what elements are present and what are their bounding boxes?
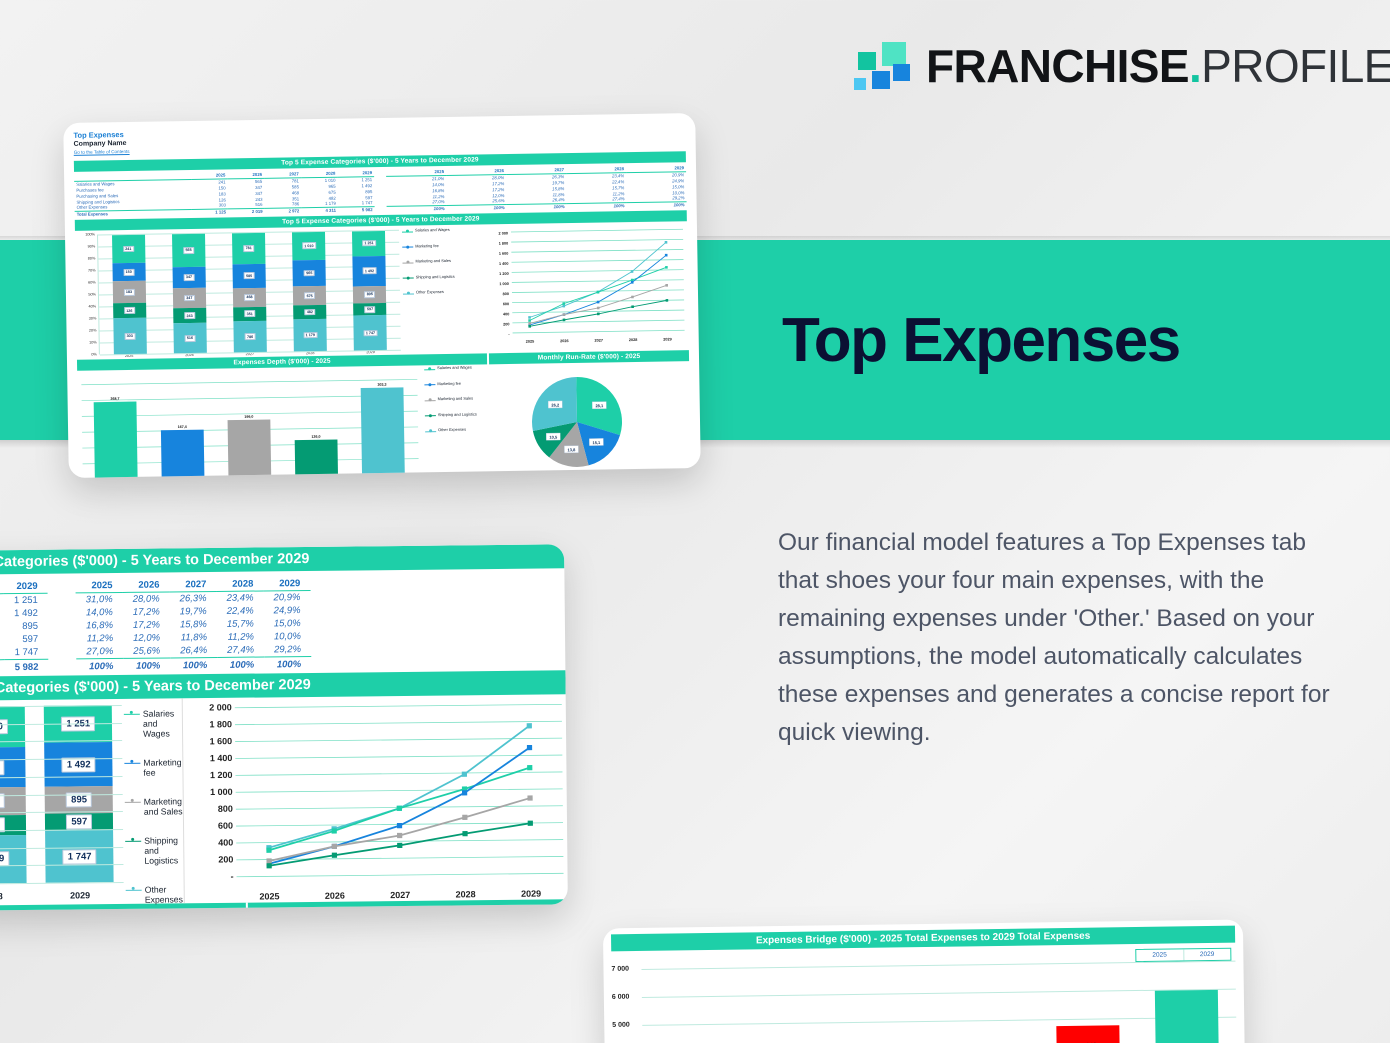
stack-segment: 183	[112, 281, 145, 303]
segment-label: 351	[244, 310, 255, 317]
segment-label: 516	[184, 335, 195, 342]
stack-segment: 1 179	[293, 319, 327, 352]
legend-label: Other Expenses	[416, 289, 444, 294]
svg-text:13,8: 13,8	[567, 448, 576, 453]
axis-tick: 6 000	[612, 994, 630, 1001]
segment-label: 585	[244, 272, 255, 279]
stack-segment: 895	[45, 786, 113, 813]
svg-text:2029: 2029	[663, 338, 672, 342]
hero-description: Our financial model features a Top Expen…	[778, 524, 1338, 752]
svg-text:2025: 2025	[259, 891, 279, 901]
svg-text:800: 800	[503, 293, 509, 297]
legend-marker	[125, 798, 141, 806]
legend-item: Marketing and Sales	[402, 258, 487, 265]
legend-item: Other Expenses	[126, 884, 184, 905]
card1-stacked-bar-chart: 2411501831263035653473472435167815854683…	[97, 230, 401, 355]
legend-label: Marketing fee	[437, 381, 461, 386]
card3-waterfall-chart: 7 0006 0005 0004 0007064711 443	[611, 947, 1237, 1043]
segment-label: 347	[184, 295, 195, 302]
stack-segment: 781	[232, 232, 266, 264]
legend-item: Shipping and Logistics	[403, 273, 488, 280]
legend-item: Marketing fee	[402, 242, 487, 249]
segment-label: 565	[183, 247, 194, 254]
page-title: Top Expenses	[782, 310, 1180, 372]
svg-text:303,3: 303,3	[377, 383, 386, 387]
axis-tick: 5 000	[612, 1022, 630, 1029]
legend-item: Salaries and Wages	[424, 364, 509, 371]
svg-text:-: -	[231, 871, 234, 881]
legend-marker	[425, 413, 436, 418]
stack-segment: 1 251	[352, 230, 385, 256]
legend-marker	[402, 229, 413, 234]
svg-text:2026: 2026	[560, 340, 569, 344]
segment-label: 1 251	[61, 716, 95, 731]
segment-label: 347	[183, 274, 194, 281]
legend-marker	[424, 382, 435, 387]
card2-percent-table: 2025202620272028202931,0%28,0%26,3%23,4%…	[76, 577, 312, 673]
svg-text:2025: 2025	[526, 340, 535, 344]
svg-text:26,2: 26,2	[551, 403, 560, 408]
svg-text:400: 400	[218, 837, 233, 847]
col-header: 2025	[76, 579, 123, 593]
logo-wordmark: FRANCHISE.PROFILES	[926, 43, 1390, 89]
segment-label: 1 010	[302, 242, 316, 249]
axis-tick: 80%	[88, 257, 96, 261]
svg-text:1 000: 1 000	[210, 787, 233, 797]
svg-text:2027: 2027	[594, 339, 603, 343]
axis-tick: 0%	[91, 353, 97, 357]
segment-label: 1 492	[362, 267, 376, 274]
axis-tick: 2029	[46, 890, 114, 901]
svg-text:800: 800	[218, 804, 233, 814]
svg-text:400: 400	[503, 313, 509, 317]
legend-marker	[402, 260, 413, 265]
table-total-row: 100%100%100%100%100%	[76, 656, 311, 673]
svg-text:600: 600	[503, 303, 509, 307]
svg-text:1 600: 1 600	[499, 252, 509, 256]
logo-dot: .	[1189, 40, 1201, 92]
stack-column: 565347347243516	[172, 233, 207, 354]
legend-marker	[424, 367, 435, 372]
svg-text:-: -	[508, 333, 510, 337]
stack-column: 1 2511 4928955971 747	[352, 230, 387, 351]
stack-segment: 347	[172, 267, 205, 288]
stack-segment: 1 179	[0, 835, 27, 884]
segment-label: 1 747	[363, 330, 377, 337]
segment-label: 1 010	[0, 719, 8, 734]
card2-line-chart: 2 0001 8001 6001 4001 2001 0008006004002…	[182, 694, 568, 903]
segment-label: 243	[184, 312, 195, 319]
svg-text:1 200: 1 200	[499, 272, 509, 276]
svg-text:2026: 2026	[325, 891, 345, 901]
stack-segment: 351	[233, 306, 266, 321]
stack-segment: 965	[0, 747, 26, 787]
axis-tick: 70%	[88, 269, 96, 273]
axis-tick: 2028	[0, 891, 27, 902]
legend-item: Marketing and Sales	[425, 395, 510, 402]
logo-bold-text: FRANCHISE	[926, 40, 1189, 92]
legend-item: Other Expenses	[403, 289, 488, 296]
segment-label: 597	[365, 306, 376, 313]
stack-segment: 243	[173, 308, 206, 323]
legend-label: Marketing and Sales	[415, 258, 451, 264]
card1-pie-legend: Salaries and Wages Marketing fee Marketi…	[421, 364, 511, 477]
legend-item: Marketing and Sales	[125, 796, 183, 817]
svg-text:1 200: 1 200	[210, 770, 233, 780]
legend-label: Shipping and Logistics	[144, 835, 183, 865]
legend-label: Shipping and Logistics	[438, 411, 477, 417]
stack-segment: 241	[112, 234, 146, 263]
svg-text:1 600: 1 600	[210, 736, 233, 746]
segment-label: 468	[244, 294, 255, 301]
legend-item: Shipping and Logistics	[425, 411, 510, 418]
svg-text:2028: 2028	[456, 889, 476, 899]
segment-label: 597	[66, 814, 92, 829]
svg-text:2029: 2029	[521, 889, 541, 899]
stack-segment: 1 747	[354, 315, 388, 351]
legend-item: Other Expenses	[425, 426, 510, 433]
legend-marker	[403, 291, 414, 296]
stack-segment: 1 492	[353, 256, 387, 286]
stack-segment: 347	[173, 288, 206, 309]
table-total-row: 2 0192 9724 3115 982	[0, 659, 49, 675]
dashboard-card-expenses-bridge[interactable]: Expenses Bridge ($'000) - 2025 Total Exp…	[603, 920, 1245, 1043]
segment-label: 1 179	[0, 851, 9, 866]
svg-text:199,0: 199,0	[244, 415, 253, 419]
svg-text:1 400: 1 400	[210, 753, 233, 763]
stack-segment: 895	[353, 285, 386, 303]
logo-squares-icon	[852, 38, 908, 94]
stack-segment: 786	[233, 321, 267, 353]
axis-tick: 50%	[88, 293, 96, 297]
segment-label: 781	[243, 245, 254, 252]
dashboard-card-expense-categories[interactable]: Top 5 Expense Categories ($'000) - 5 Yea…	[0, 544, 568, 911]
legend-item: Marketing fee	[424, 380, 509, 387]
legend-label: Marketing and Sales	[438, 396, 474, 402]
svg-text:28,1: 28,1	[595, 404, 604, 409]
svg-text:2028: 2028	[629, 338, 638, 342]
col-header: 2028	[216, 577, 263, 591]
segment-label: 482	[304, 309, 315, 316]
stack-segment: 516	[173, 323, 207, 354]
segment-label: 1 179	[303, 332, 317, 339]
logo-light-text: PROFILES	[1201, 40, 1390, 92]
card1-percent-table: 2025202620272028202921,0%28,0%26,3%23,4%…	[386, 165, 687, 212]
stack-segment: 597	[353, 303, 386, 315]
segment-label: 675	[304, 293, 315, 300]
axis-tick: 40%	[89, 305, 97, 309]
legend-label: Shipping and Logistics	[416, 274, 455, 280]
col-header: 2026	[122, 578, 169, 592]
dashboard-card-top-expenses[interactable]: Top Expenses Company Name Go to the Tabl…	[63, 113, 700, 478]
svg-text:1 800: 1 800	[499, 242, 509, 246]
card1-pie-chart: 28,115,113,810,526,2	[509, 362, 691, 478]
card2-values-table: 20262027202820295657811 0101 25134758596…	[0, 580, 49, 676]
segment-label: 895	[364, 291, 375, 298]
legend-marker	[126, 886, 142, 894]
segment-label: 1 251	[362, 240, 376, 247]
axis-tick: 20%	[89, 329, 97, 333]
svg-text:1 000: 1 000	[499, 282, 509, 286]
stack-column: 241150183126303	[112, 234, 147, 355]
card1-line-chart: 2 0001 8001 6001 4001 2001 0008006004002…	[487, 224, 689, 347]
legend-item: Shipping and Logistics	[125, 835, 183, 866]
segment-label: 150	[123, 269, 134, 276]
stack-column: 1 0109656754821 179	[292, 231, 327, 352]
stack-segment: 303	[113, 318, 147, 355]
stack-segment: 126	[113, 303, 146, 319]
brand-logo: FRANCHISE.PROFILES	[852, 38, 1390, 94]
legend-marker	[403, 275, 414, 280]
card1-stacked-yaxis: 100%90%80%70%60%50%40%30%20%10%0%	[75, 235, 99, 355]
axis-tick: 7 000	[611, 966, 629, 973]
axis-tick: 10%	[89, 341, 97, 345]
stack-segment: 468	[233, 287, 266, 306]
svg-text:2027: 2027	[390, 890, 410, 900]
stack-segment: 1 492	[44, 742, 113, 787]
legend-marker	[425, 429, 436, 434]
card2-legend: Salaries and Wages Marketing fee Marketi…	[124, 708, 184, 911]
segment-label: 303	[124, 333, 135, 340]
legend-marker	[402, 244, 413, 249]
stack-segment: 585	[232, 264, 265, 288]
stack-segment: 675	[0, 787, 26, 815]
stack-segment: 482	[293, 305, 326, 319]
segment-label: 126	[124, 307, 135, 314]
legend-label: Marketing and Sales	[144, 796, 183, 816]
legend-item: Salaries and Wages	[402, 227, 487, 234]
stack-segment: 965	[293, 259, 327, 286]
card2-stacked-bar-chart: 7815854683517861 0109656754821 1791 2511…	[0, 705, 124, 885]
card1-depth-bar-chart: 268,7167,4199,0126,0303,3	[77, 366, 423, 478]
col-header: 2027	[169, 578, 216, 592]
col-header: 2029	[4, 580, 48, 594]
legend-marker	[124, 710, 140, 718]
legend-label: Salaries and Wages	[437, 365, 472, 371]
axis-tick: 30%	[89, 317, 97, 321]
waterfall-bar	[1155, 989, 1219, 1043]
svg-text:1 400: 1 400	[499, 262, 509, 266]
svg-text:126,0: 126,0	[311, 435, 320, 439]
legend-item: Marketing fee	[124, 757, 182, 778]
legend-label: Other Expenses	[438, 427, 466, 432]
stack-column: 781585468351786	[232, 232, 267, 353]
segment-label: 965	[304, 270, 315, 277]
stack-segment: 150	[112, 263, 145, 281]
stack-segment: 482	[0, 815, 26, 835]
svg-text:268,7: 268,7	[110, 397, 119, 401]
svg-text:167,4: 167,4	[178, 425, 187, 429]
segment-label: 183	[123, 289, 134, 296]
card1-legend: Salaries and Wages Marketing fee Marketi…	[399, 227, 489, 354]
segment-label: 241	[123, 245, 134, 252]
segment-label: 786	[245, 333, 256, 340]
stack-segment: 565	[172, 233, 206, 267]
svg-text:600: 600	[218, 821, 233, 831]
segment-label: 675	[0, 794, 5, 809]
svg-text:1 800: 1 800	[209, 719, 232, 729]
legend-marker	[425, 398, 436, 403]
segment-label: 1 747	[63, 849, 97, 864]
stack-segment: 675	[293, 286, 326, 305]
svg-text:10,5: 10,5	[549, 435, 558, 440]
col-header: 2029	[263, 577, 310, 591]
segment-label: 965	[0, 760, 4, 775]
card1-values-table: 20252026202720282029Salaries and Wages24…	[74, 170, 375, 217]
legend-marker	[125, 837, 141, 845]
axis-tick: 90%	[88, 245, 96, 249]
svg-text:15,1: 15,1	[592, 440, 601, 445]
legend-item: Salaries and Wages	[124, 708, 182, 739]
legend-label: Marketing fee	[143, 757, 182, 777]
svg-text:200: 200	[503, 323, 509, 327]
svg-text:2 000: 2 000	[499, 232, 509, 236]
svg-text:200: 200	[218, 854, 233, 864]
legend-label: Marketing fee	[415, 243, 439, 248]
axis-tick: 100%	[85, 233, 95, 237]
stack-segment: 1 747	[45, 830, 114, 882]
legend-label: Salaries and Wages	[415, 227, 450, 233]
waterfall-bar: 1 443	[1056, 1025, 1120, 1043]
stack-segment: 1 010	[292, 231, 326, 260]
svg-text:2 000: 2 000	[209, 702, 232, 712]
legend-marker	[124, 759, 140, 767]
axis-tick: 60%	[88, 281, 96, 285]
card2-stacked-xaxis: 202720282029	[0, 890, 124, 903]
legend-label: Salaries and Wages	[143, 708, 182, 738]
legend-label: Other Expenses	[145, 884, 184, 904]
